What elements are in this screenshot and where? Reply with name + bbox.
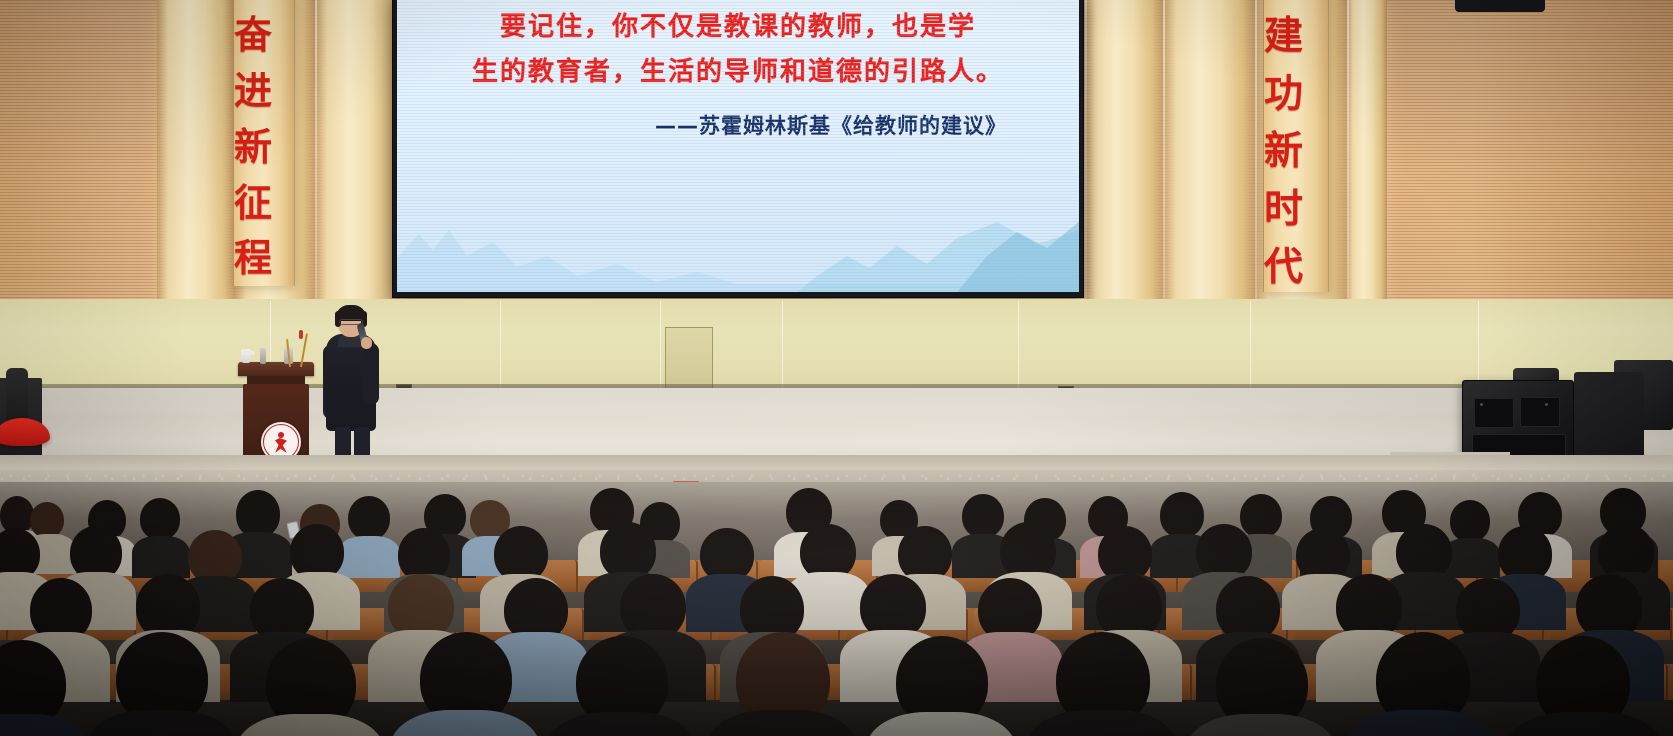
quote-attribution: ——苏霍姆林斯基《给教师的建议》 — [441, 110, 1035, 140]
banner-left-text: 奋进新征程 — [234, 8, 294, 287]
audience-area — [0, 482, 1673, 736]
auditorium-scene: 奋进新征程 建功新时代 要记住，你不仅是教课的教师，也是学 生的教育者，生活的导… — [0, 0, 1673, 736]
banner-left: 奋进新征程 — [233, 0, 295, 286]
pa-speaker-grille — [1520, 397, 1560, 427]
ceiling-fixture — [1455, 0, 1545, 12]
emblem-figure-icon — [274, 432, 288, 454]
mountain-silhouette — [397, 172, 1079, 292]
microphone-tip-icon — [299, 330, 303, 339]
slide-content: 要记住，你不仅是教课的教师，也是学 生的教育者，生活的导师和道德的引路人。 ——… — [397, 5, 1079, 140]
projection-screen: 要记住，你不仅是教课的教师，也是学 生的教育者，生活的导师和道德的引路人。 ——… — [397, 0, 1079, 292]
banner-right-text: 建功新时代 — [1264, 8, 1328, 297]
projection-screen-frame: 要记住，你不仅是教课的教师，也是学 生的教育者，生活的导师和道德的引路人。 ——… — [392, 0, 1084, 298]
water-bottle-icon — [260, 348, 266, 364]
banner-right: 建功新时代 — [1263, 0, 1329, 292]
speaker-hand — [361, 337, 372, 349]
coffee-cup-icon — [241, 349, 251, 363]
wall-access-panel — [665, 327, 713, 389]
quote-line-1: 要记住，你不仅是教课的教师，也是学 — [441, 5, 1035, 50]
quote-line-2: 生的教育者，生活的导师和道德的引路人。 — [441, 50, 1035, 95]
speaker-right-arm — [363, 343, 379, 405]
